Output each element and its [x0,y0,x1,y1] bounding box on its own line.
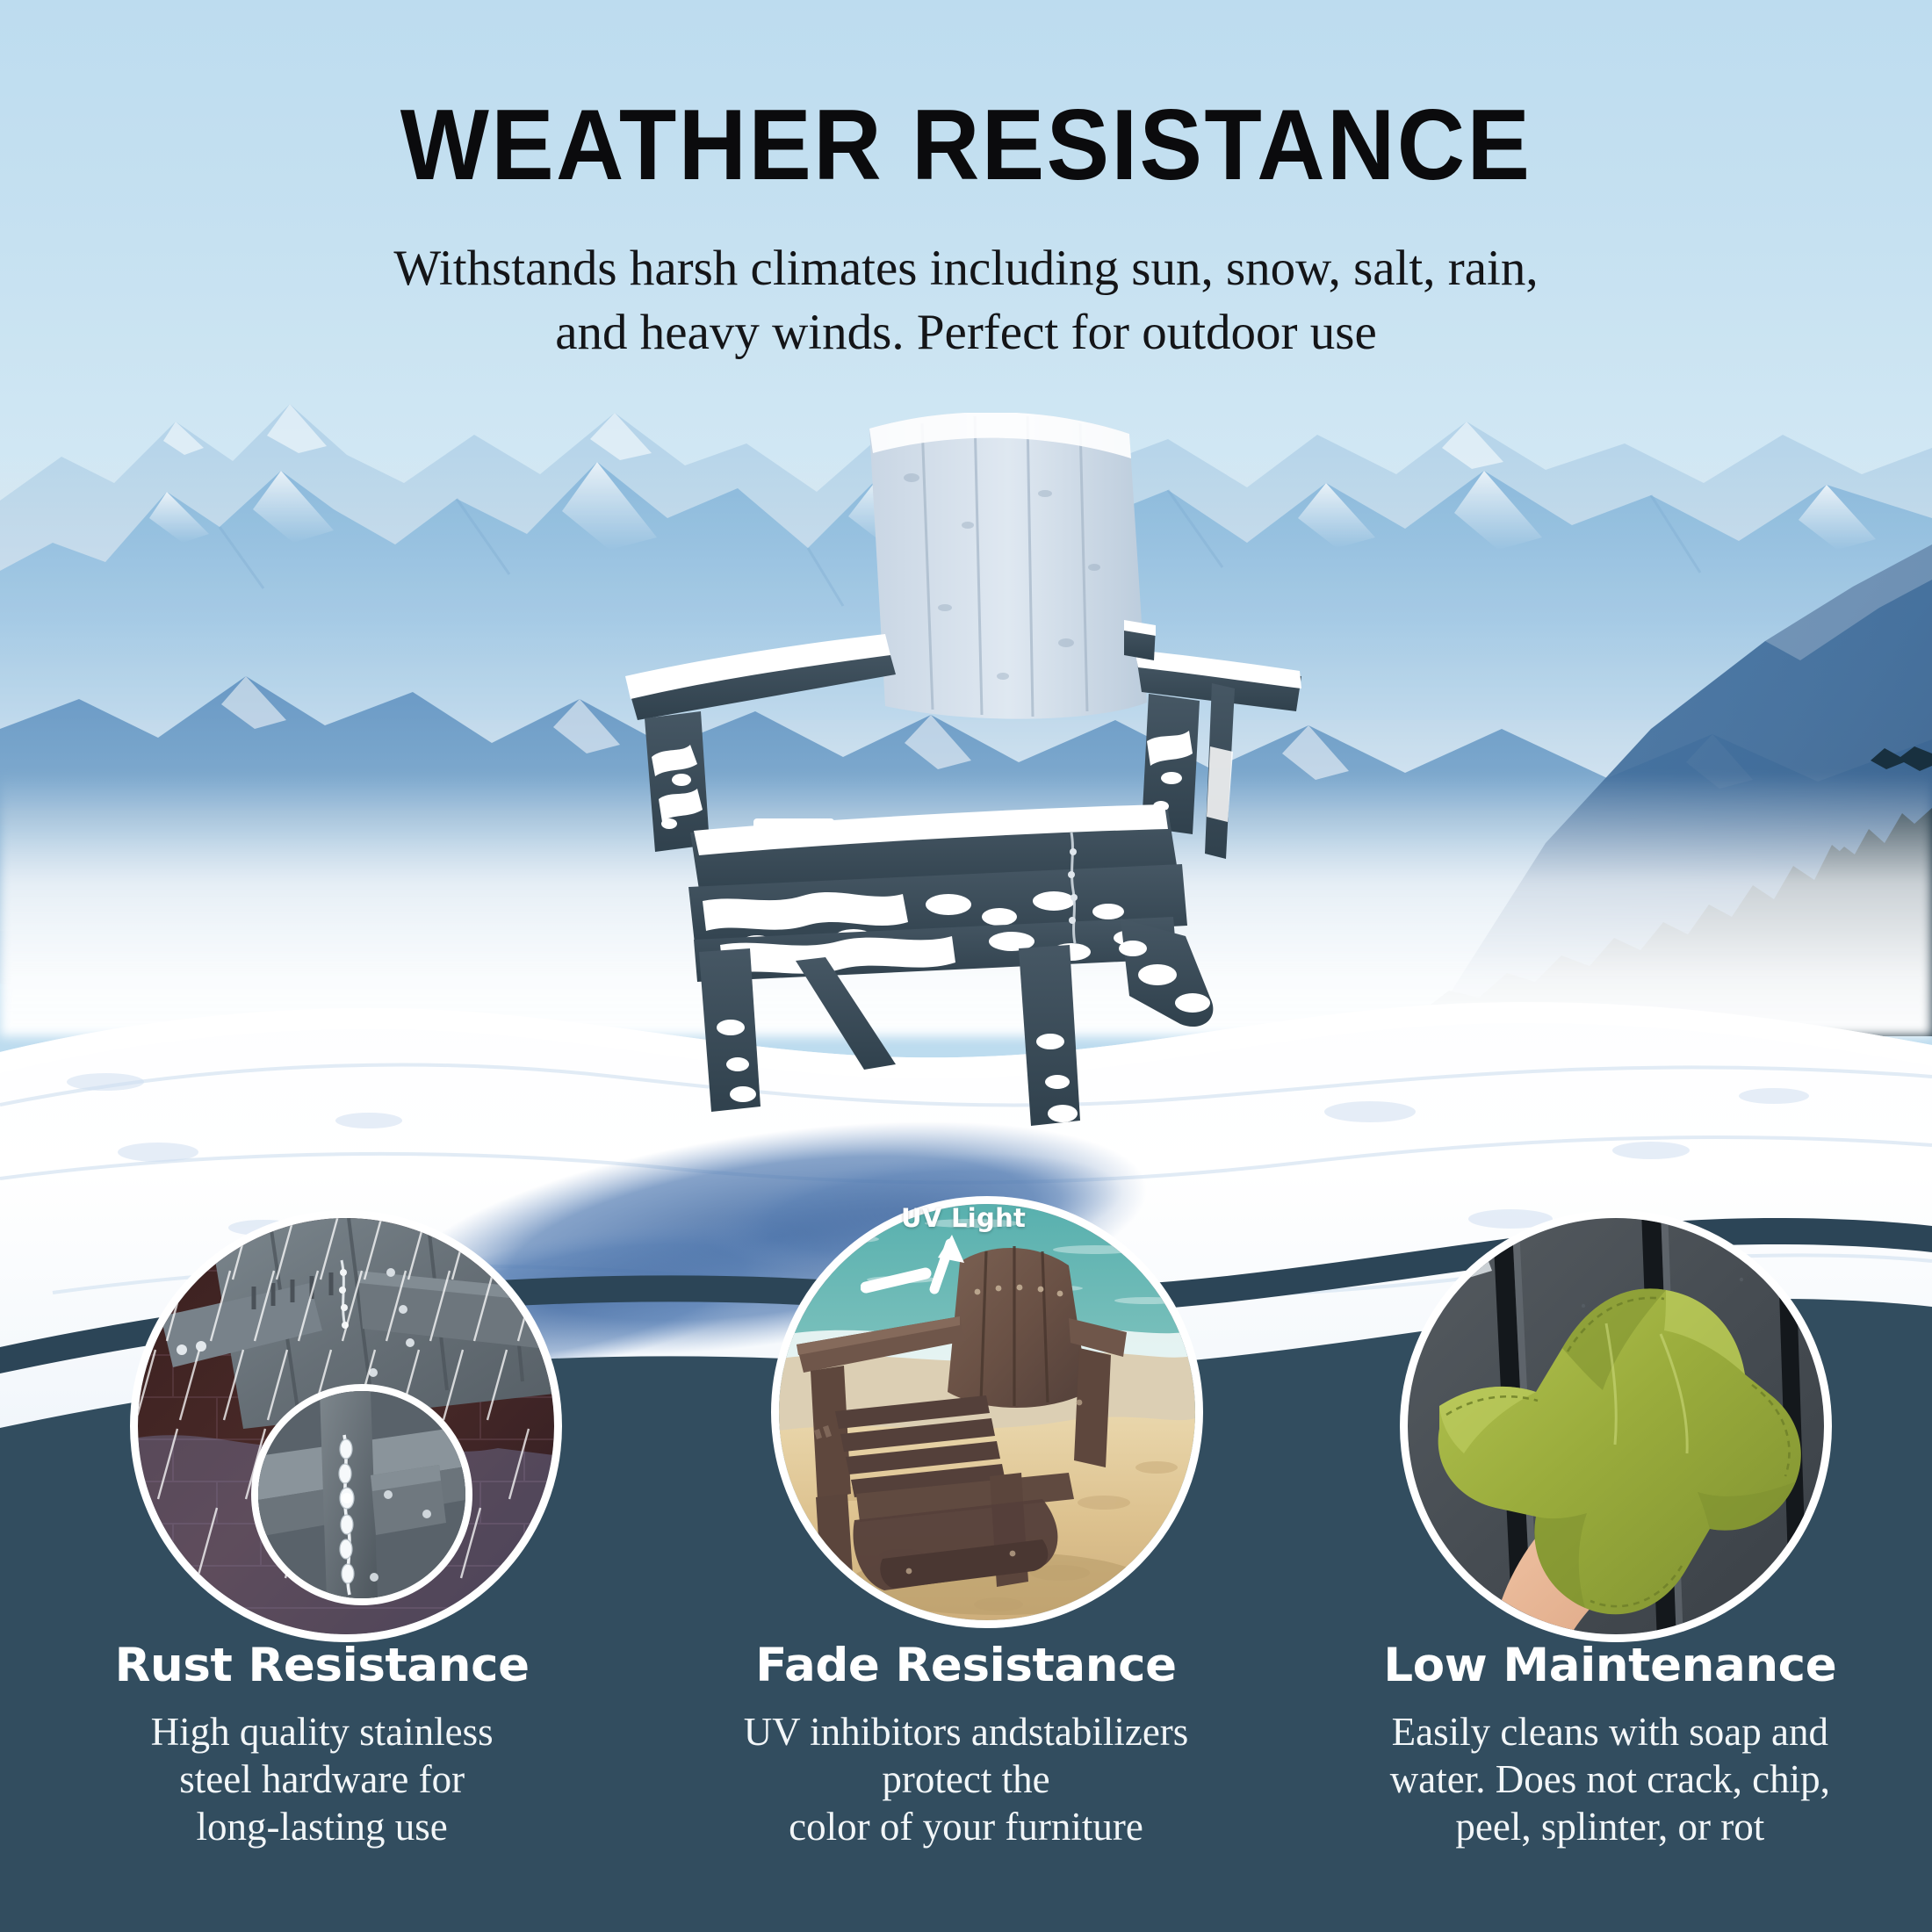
feature-body-line: peel, splinter, or rot [1311,1803,1909,1850]
subtitle-line-1: Withstands harsh climates including sun,… [0,237,1932,301]
subtitle-line-2: and heavy winds. Perfect for outdoor use [0,301,1932,365]
feature-body-line: UV inhibitors andstabilizers [667,1708,1265,1755]
feature-body-fade-resistance: UV inhibitors andstabilizers protect the… [667,1708,1265,1850]
feature-image-rust-hardware-detail [251,1384,472,1605]
snow-covered-adirondack-chair [606,413,1326,1142]
feature-body-rust-resistance: High quality stainless steel hardware fo… [23,1708,621,1850]
product-feature-infographic: UV Light [0,0,1932,1932]
feature-body-line: water. Does not crack, chip, [1311,1755,1909,1803]
feature-title-rust-resistance: Rust Resistance [23,1639,621,1692]
feature-card-rust-resistance: Rust Resistance High quality stainless s… [0,1639,644,1902]
feature-body-low-maintenance: Easily cleans with soap and water. Does … [1311,1708,1909,1850]
feature-body-line: long-lasting use [23,1803,621,1850]
uv-light-label: UV Light [901,1203,1026,1233]
feature-card-low-maintenance: Low Maintenance Easily cleans with soap … [1288,1639,1932,1902]
feature-body-line: protect the [667,1755,1265,1803]
feature-image-low-maintenance [1400,1210,1832,1642]
feature-title-fade-resistance: Fade Resistance [667,1639,1265,1692]
feature-card-fade-resistance: Fade Resistance UV inhibitors andstabili… [644,1639,1287,1902]
feature-body-line: color of your furniture [667,1803,1265,1850]
uv-light-arrow-icon [861,1233,984,1330]
page-subtitle: Withstands harsh climates including sun,… [0,237,1932,365]
feature-card-list: Rust Resistance High quality stainless s… [0,1639,1932,1902]
feature-body-line: steel hardware for [23,1755,621,1803]
feature-title-low-maintenance: Low Maintenance [1311,1639,1909,1692]
feature-image-fade-resistance [771,1196,1203,1628]
feature-body-line: Easily cleans with soap and [1311,1708,1909,1755]
feature-body-line: High quality stainless [23,1708,621,1755]
page-title: WEATHER RESISTANCE [58,95,1874,197]
